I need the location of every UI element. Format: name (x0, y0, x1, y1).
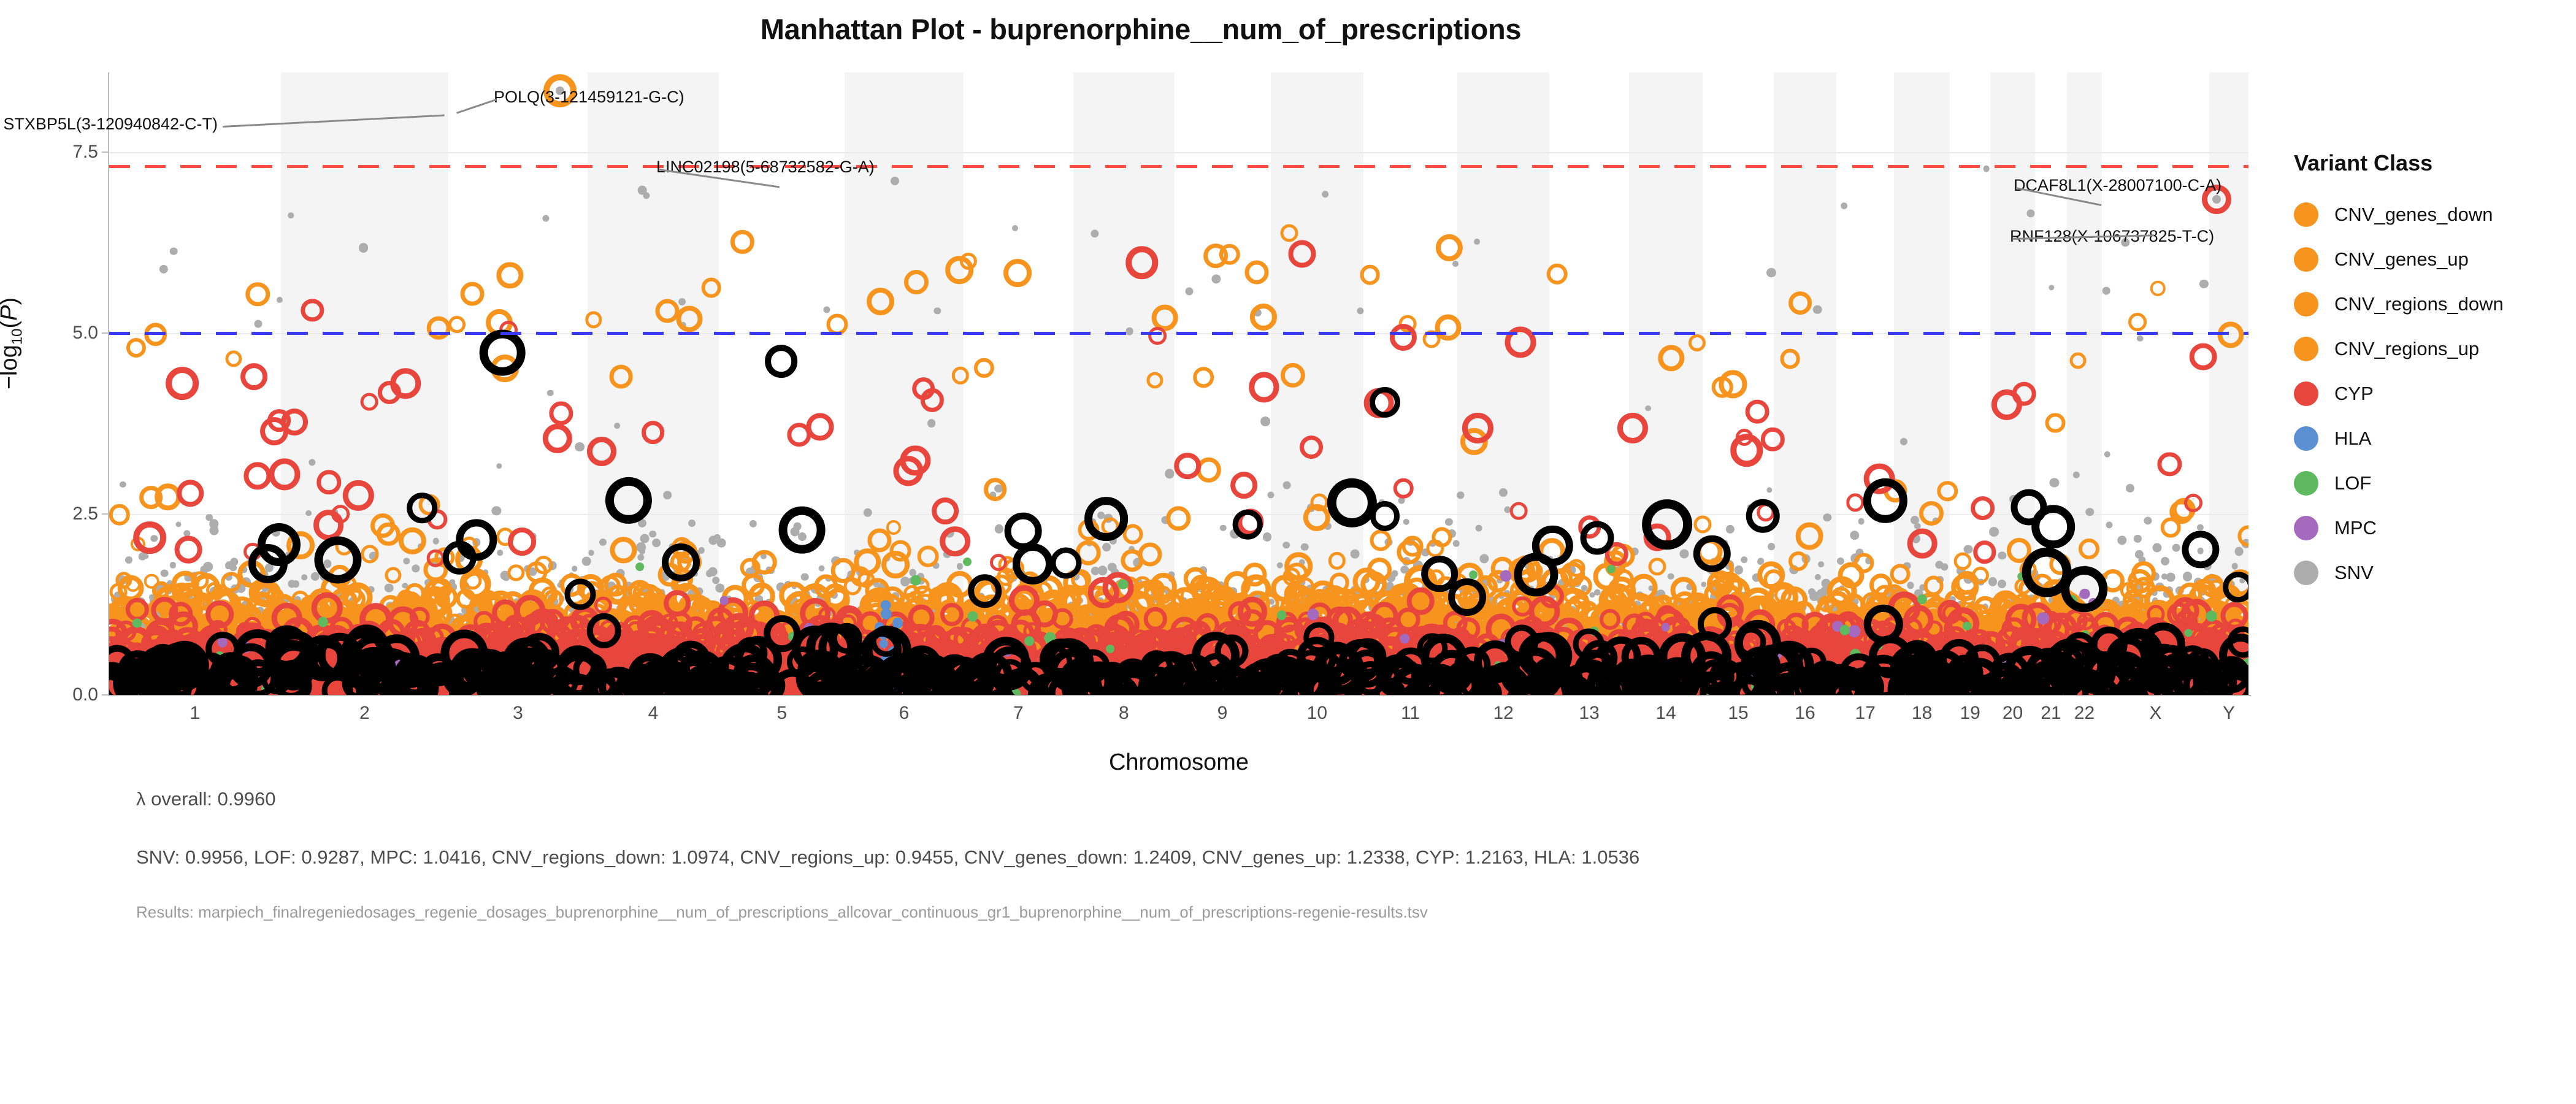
scatter-point (161, 569, 169, 577)
scatter-point (818, 565, 825, 572)
y-axis-label-text: −log (0, 345, 22, 389)
scatter-point (688, 519, 696, 527)
scatter-point (582, 557, 591, 566)
scatter-point (649, 531, 656, 538)
scatter-point (664, 491, 672, 499)
scatter-point (801, 573, 809, 581)
scatter-point (305, 510, 312, 516)
scatter-point (1185, 287, 1193, 295)
scatter-point (995, 524, 1003, 533)
scatter-point (678, 298, 686, 305)
scatter-point (927, 419, 936, 427)
scatter-point (432, 538, 439, 545)
scatter-point (910, 569, 916, 575)
scatter-point (359, 243, 369, 253)
page-title: Manhattan Plot - buprenorphine__num_of_p… (0, 12, 2282, 46)
scatter-point (159, 265, 168, 274)
scatter-point (301, 574, 307, 580)
scatter-point (638, 186, 647, 195)
scatter-point (496, 463, 502, 469)
scatter-point (385, 583, 394, 592)
scatter-point (497, 550, 503, 556)
scatter-point (547, 390, 554, 397)
scatter-point (717, 539, 726, 548)
scatter-point (749, 520, 757, 527)
scatter-point (1103, 543, 1111, 551)
scatter-point (176, 521, 182, 527)
plot-area (109, 72, 2248, 695)
scatter-point (1260, 417, 1270, 427)
scatter-point (636, 542, 646, 552)
scatter-point (712, 577, 719, 584)
y-axis-label-sub: 10 (9, 329, 26, 345)
gridline (109, 152, 2248, 153)
scatter-point (1012, 225, 1018, 231)
scatter-point (575, 442, 585, 452)
scatter-point (599, 539, 607, 546)
scatter-point (169, 562, 175, 568)
y-axis-label: −log10(P) (0, 297, 26, 389)
scatter-point (120, 481, 126, 488)
scatter-point (125, 556, 132, 564)
scatter-point (706, 570, 713, 577)
scatter-point (203, 562, 213, 572)
plot-panel (109, 72, 2248, 695)
scatter-point (1211, 274, 1221, 283)
scatter-point (229, 564, 237, 572)
scatter-point (542, 215, 549, 222)
scatter-point (170, 247, 178, 255)
scatter-point (1220, 525, 1227, 532)
scatter-point (652, 539, 661, 547)
scatter-point (640, 534, 649, 543)
scatter-point (614, 423, 620, 429)
y-axis-label-var: P (0, 305, 22, 321)
scatter-point (254, 320, 262, 328)
scatter-point (572, 565, 578, 572)
scatter-point (824, 307, 830, 313)
